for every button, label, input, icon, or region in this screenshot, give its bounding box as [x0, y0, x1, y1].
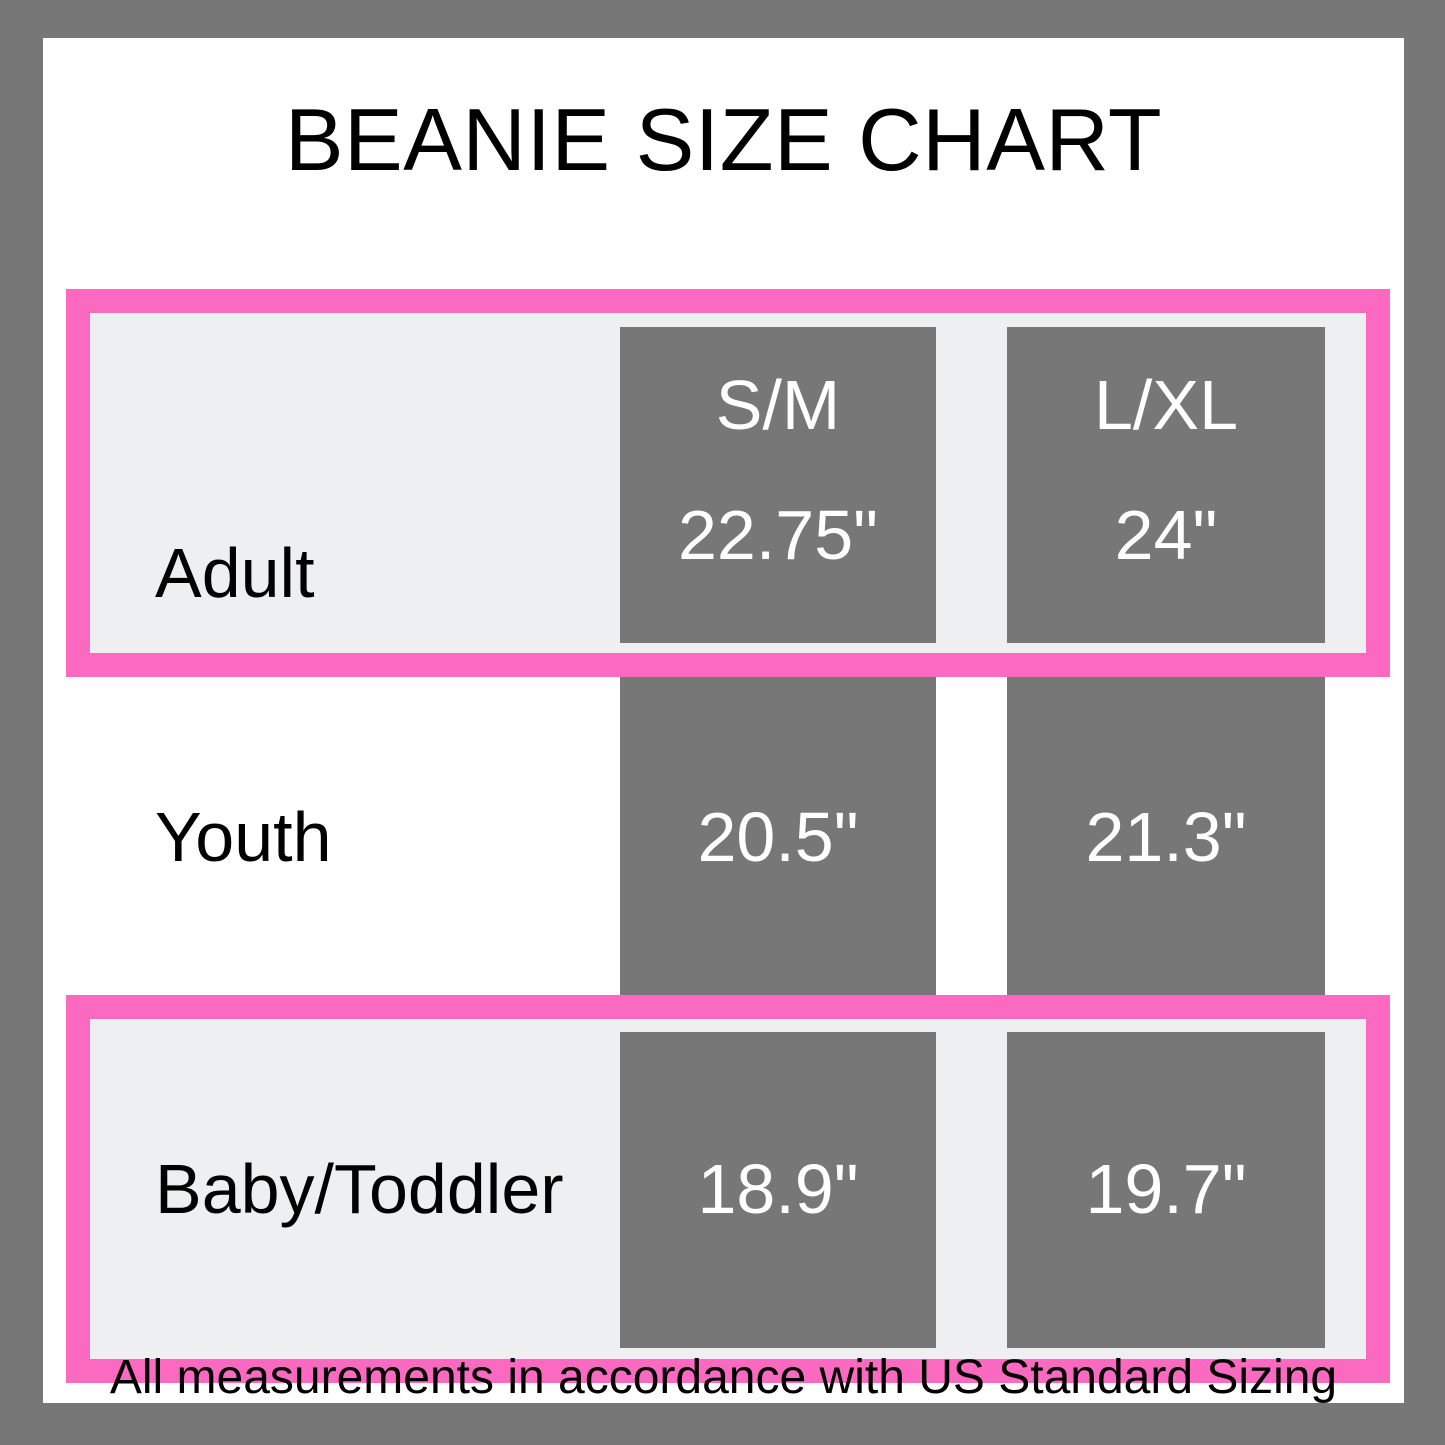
cell-value-youth-sm: 20.5"	[620, 802, 936, 872]
cell-baby-lxl: 19.7"	[1007, 1032, 1325, 1348]
column-header-sm: S/M	[620, 370, 936, 440]
cell-value-baby-sm: 18.9"	[620, 1154, 936, 1224]
cell-baby-sm: 18.9"	[620, 1032, 936, 1348]
table-row: Adult S/M 22.75" L/XL 24"	[43, 289, 1404, 677]
table-row: Youth 20.5" 21.3"	[43, 677, 1404, 995]
size-chart-table: Adult S/M 22.75" L/XL 24" Youth 20.5"	[43, 253, 1404, 1346]
cell-value-adult-lxl: 24"	[1007, 500, 1325, 570]
page-title: BEANIE SIZE CHART	[43, 96, 1404, 184]
cell-adult-lxl: L/XL 24"	[1007, 327, 1325, 643]
outer-frame: BEANIE SIZE CHART Adult S/M 22.75" L/XL …	[0, 0, 1445, 1445]
size-chart-card: BEANIE SIZE CHART Adult S/M 22.75" L/XL …	[43, 38, 1404, 1403]
cell-adult-sm: S/M 22.75"	[620, 327, 936, 643]
cell-value-adult-sm: 22.75"	[620, 500, 936, 570]
row-label-baby-toddler: Baby/Toddler	[155, 1154, 564, 1224]
row-label-youth: Youth	[155, 802, 332, 872]
cell-value-baby-lxl: 19.7"	[1007, 1154, 1325, 1224]
row-label-adult: Adult	[155, 538, 315, 608]
footer-note: All measurements in accordance with US S…	[43, 1354, 1404, 1402]
cell-youth-lxl: 21.3"	[1007, 677, 1325, 995]
column-header-lxl: L/XL	[1007, 370, 1325, 440]
table-row: Baby/Toddler 18.9" 19.7"	[43, 995, 1404, 1383]
cell-value-youth-lxl: 21.3"	[1007, 802, 1325, 872]
cell-youth-sm: 20.5"	[620, 677, 936, 995]
